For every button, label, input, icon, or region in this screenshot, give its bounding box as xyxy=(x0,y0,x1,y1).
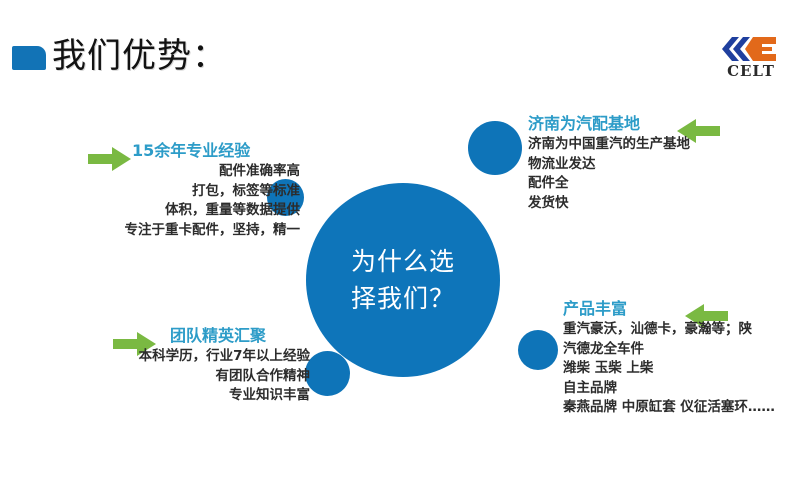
block-experience: 15余年专业经验 配件准确率高 打包，标签等标准 体积，重量等数据提供 专注于重… xyxy=(60,140,300,240)
page-title: 我们优势： xyxy=(52,34,227,78)
logo-text: CELT xyxy=(714,62,788,80)
satellite-circle-bottom xyxy=(305,351,350,396)
block-products-heading: 产品丰富 xyxy=(563,298,800,320)
block-team-line-1: 本科学历，行业7年以上经验 xyxy=(60,347,310,367)
block-base-line-1: 济南为中国重汽的生产基地 xyxy=(528,135,788,155)
block-base-line-3: 配件全 xyxy=(528,174,788,194)
block-products-line-4: 自主品牌 xyxy=(563,379,800,399)
block-team: 团队精英汇聚 本科学历，行业7年以上经验 有团队合作精神 专业知识丰富 xyxy=(60,325,310,406)
block-team-heading: 团队精英汇聚 xyxy=(170,325,310,347)
block-products-line-3: 潍柴 玉柴 上柴 xyxy=(563,359,800,379)
block-base-heading: 济南为汽配基地 xyxy=(528,113,788,135)
slide-canvas: 我们优势： CELT 为什么选 择我们？ 15余年专业经验 配件准确率高 打包，… xyxy=(0,0,800,480)
block-products-line-5: 秦燕品牌 中原缸套 仪征活塞环…… xyxy=(563,398,800,418)
block-products: 产品丰富 重汽豪沃，汕德卡，豪瀚等；陕 汽德龙全车件 潍柴 玉柴 上柴 自主品牌… xyxy=(563,298,800,418)
celt-logo: CELT xyxy=(714,34,788,80)
block-team-line-2: 有团队合作精神 xyxy=(60,367,310,387)
block-experience-line-1: 配件准确率高 xyxy=(60,162,300,182)
block-base-line-2: 物流业发达 xyxy=(528,155,788,175)
block-experience-heading: 15余年专业经验 xyxy=(132,140,300,162)
block-experience-line-2: 打包，标签等标准 xyxy=(60,182,300,202)
title-marker-icon xyxy=(12,46,46,70)
block-products-line-1: 重汽豪沃，汕德卡，豪瀚等；陕 xyxy=(563,320,800,340)
block-base-line-4: 发货快 xyxy=(528,194,788,214)
block-base: 济南为汽配基地 济南为中国重汽的生产基地 物流业发达 配件全 发货快 xyxy=(528,113,788,213)
block-team-line-3: 专业知识丰富 xyxy=(60,386,310,406)
satellite-circle-top xyxy=(468,121,522,175)
satellite-circle-right xyxy=(518,330,558,370)
block-experience-line-4: 专注于重卡配件，坚持，精一 xyxy=(60,221,300,241)
logo-mark-icon xyxy=(720,34,782,64)
center-circle xyxy=(306,183,500,377)
header: 我们优势： CELT xyxy=(0,0,800,100)
block-experience-line-3: 体积，重量等数据提供 xyxy=(60,201,300,221)
block-products-line-2: 汽德龙全车件 xyxy=(563,340,800,360)
